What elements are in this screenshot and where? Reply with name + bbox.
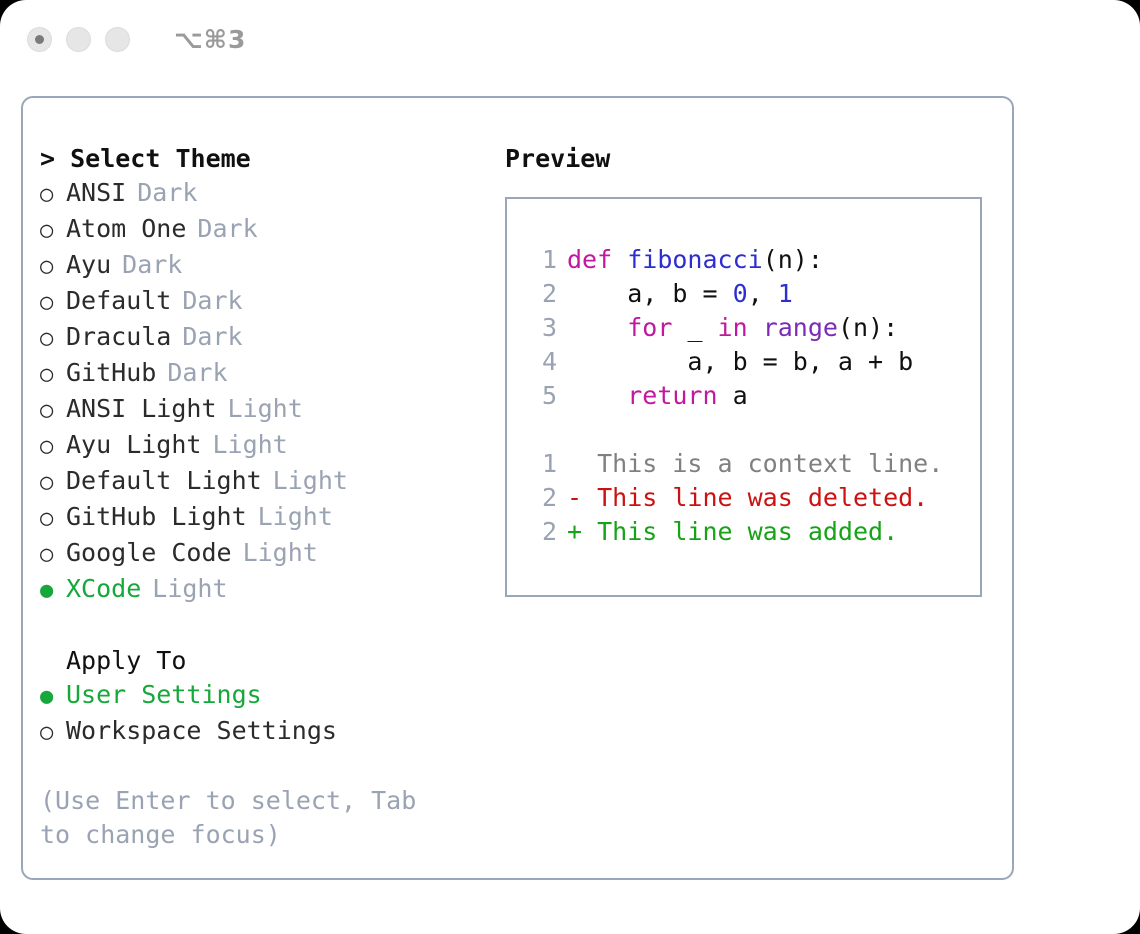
theme-column: > Select Theme ○ANSIDark○Atom OneDark○Ay… [23, 98, 485, 878]
theme-variant-tag: Dark [197, 212, 257, 246]
theme-option-xcode[interactable]: ●XCodeLight [40, 572, 485, 608]
code-token-txt: (n): [763, 245, 823, 274]
code-line: 3 for _ in range(n): [525, 311, 980, 345]
theme-option-dracula[interactable]: ○DraculaDark [40, 320, 485, 356]
theme-option-default[interactable]: ○DefaultDark [40, 284, 485, 320]
theme-option-label: XCode [66, 572, 141, 606]
preview-column: Preview 1def fibonacci(n):2 a, b = 0, 13… [485, 98, 1012, 878]
theme-option-github[interactable]: ○GitHubDark [40, 356, 485, 392]
code-token-kw: for [627, 313, 687, 342]
traffic-light-maximize[interactable] [105, 27, 130, 52]
theme-option-list[interactable]: ○ANSIDark○Atom OneDark○AyuDark○DefaultDa… [40, 176, 485, 608]
apply-to-option-user-settings[interactable]: ●User Settings [40, 678, 485, 714]
code-line-content: - This line was deleted. [567, 481, 928, 515]
radio-unselected-icon: ○ [40, 214, 66, 248]
theme-option-label: ANSI Light [66, 392, 217, 426]
radio-unselected-icon: ○ [40, 466, 66, 500]
code-line-number: 2 [525, 515, 557, 549]
code-line: 1def fibonacci(n): [525, 243, 980, 277]
code-line-number: 3 [525, 311, 557, 345]
theme-variant-tag: Dark [167, 356, 227, 390]
radio-unselected-icon: ○ [40, 322, 66, 356]
radio-selected-icon: ● [40, 574, 66, 608]
radio-unselected-icon: ○ [40, 716, 66, 750]
traffic-light-close-dot [35, 35, 44, 44]
theme-option-label: Dracula [66, 320, 171, 354]
code-line-content: This is a context line. [567, 447, 943, 481]
theme-option-label: Default [66, 284, 171, 318]
theme-option-google-code[interactable]: ○Google CodeLight [40, 536, 485, 572]
code-token-del: - This line was deleted. [567, 483, 928, 512]
code-token-txt: (n): [838, 313, 898, 342]
code-token-add: + This line was added. [567, 517, 898, 546]
window-titlebar: ⌥⌘3 [0, 0, 1140, 78]
theme-option-atom-one[interactable]: ○Atom OneDark [40, 212, 485, 248]
code-line: 5 return a [525, 379, 980, 413]
theme-option-label: Google Code [66, 536, 232, 570]
theme-option-label: Default Light [66, 464, 262, 498]
theme-option-label: GitHub Light [66, 500, 247, 534]
radio-unselected-icon: ○ [40, 358, 66, 392]
theme-variant-tag: Light [273, 464, 348, 498]
theme-option-ayu-light[interactable]: ○Ayu LightLight [40, 428, 485, 464]
code-token-kw: in [718, 313, 763, 342]
theme-variant-tag: Light [228, 392, 303, 426]
code-line-number: 5 [525, 379, 557, 413]
theme-option-label: GitHub [66, 356, 156, 390]
code-token-txt: a, b = [567, 279, 733, 308]
theme-variant-tag: Light [212, 428, 287, 462]
code-line-number: 2 [525, 481, 557, 515]
app-window: ⌥⌘3 > Select Theme ○ANSIDark○Atom OneDar… [0, 0, 1140, 934]
traffic-light-close[interactable] [27, 27, 52, 52]
apply-to-option-workspace-settings[interactable]: ○Workspace Settings [40, 714, 485, 750]
code-line: 2+ This line was added. [525, 515, 980, 549]
radio-unselected-icon: ○ [40, 286, 66, 320]
code-line-content: a, b = b, a + b [567, 345, 913, 379]
theme-option-label: Atom One [66, 212, 186, 246]
code-token-txt: , [748, 279, 778, 308]
code-line: 2- This line was deleted. [525, 481, 980, 515]
code-token-txt: _ [687, 313, 717, 342]
code-line-number: 1 [525, 447, 557, 481]
code-token-call: range [763, 313, 838, 342]
theme-variant-tag: Light [258, 500, 333, 534]
code-line: 2 a, b = 0, 1 [525, 277, 980, 311]
code-line: 1 This is a context line. [525, 447, 980, 481]
keyboard-shortcut-label: ⌥⌘3 [174, 25, 246, 54]
theme-option-ansi-light[interactable]: ○ANSI LightLight [40, 392, 485, 428]
preview-heading: Preview [505, 142, 1012, 176]
code-line-number: 2 [525, 277, 557, 311]
radio-unselected-icon: ○ [40, 394, 66, 428]
spacer [40, 608, 485, 644]
radio-unselected-icon: ○ [40, 430, 66, 464]
theme-option-label: ANSI [66, 176, 126, 210]
theme-variant-tag: Dark [122, 248, 182, 282]
code-token-txt [567, 313, 627, 342]
code-line-content: return a [567, 379, 748, 413]
code-token-txt: a, b = b, a + b [567, 347, 913, 376]
code-token-num: 0 [733, 279, 748, 308]
theme-option-ansi[interactable]: ○ANSIDark [40, 176, 485, 212]
code-token-num: 1 [778, 279, 793, 308]
code-line-content: + This line was added. [567, 515, 898, 549]
code-token-kw: def [567, 245, 627, 274]
code-preview-box: 1def fibonacci(n):2 a, b = 0, 13 for _ i… [505, 197, 982, 597]
theme-option-default-light[interactable]: ○Default LightLight [40, 464, 485, 500]
code-token-kw: return [627, 381, 732, 410]
radio-unselected-icon: ○ [40, 178, 66, 212]
apply-to-heading: Apply To [40, 644, 485, 678]
code-token-txt: a [733, 381, 748, 410]
theme-option-ayu[interactable]: ○AyuDark [40, 248, 485, 284]
theme-option-label: Ayu Light [66, 428, 201, 462]
theme-option-github-light[interactable]: ○GitHub LightLight [40, 500, 485, 536]
traffic-light-minimize[interactable] [66, 27, 91, 52]
apply-to-option-label: Workspace Settings [66, 714, 337, 748]
theme-variant-tag: Light [152, 572, 227, 606]
radio-selected-icon: ● [40, 680, 66, 714]
radio-unselected-icon: ○ [40, 250, 66, 284]
code-token-txt [567, 381, 627, 410]
code-line-content: def fibonacci(n): [567, 243, 823, 277]
code-line: 4 a, b = b, a + b [525, 345, 980, 379]
traffic-lights [27, 27, 130, 52]
apply-to-option-list[interactable]: ●User Settings○Workspace Settings [40, 678, 485, 750]
theme-variant-tag: Light [243, 536, 318, 570]
select-theme-heading: > Select Theme [40, 142, 485, 176]
code-line-number: 1 [525, 243, 557, 277]
theme-selector-panel: > Select Theme ○ANSIDark○Atom OneDark○Ay… [21, 96, 1014, 880]
keyboard-hint-text: (Use Enter to select, Tab to change focu… [40, 784, 440, 852]
theme-variant-tag: Dark [137, 176, 197, 210]
code-line-number: 4 [525, 345, 557, 379]
code-line-content: a, b = 0, 1 [567, 277, 793, 311]
code-token-ctx: This is a context line. [567, 449, 943, 478]
apply-to-option-label: User Settings [66, 678, 262, 712]
theme-variant-tag: Dark [182, 284, 242, 318]
radio-unselected-icon: ○ [40, 502, 66, 536]
radio-unselected-icon: ○ [40, 538, 66, 572]
code-blank-line [525, 413, 980, 447]
theme-variant-tag: Dark [182, 320, 242, 354]
code-token-fn: fibonacci [627, 245, 762, 274]
theme-option-label: Ayu [66, 248, 111, 282]
code-line-content: for _ in range(n): [567, 311, 898, 345]
